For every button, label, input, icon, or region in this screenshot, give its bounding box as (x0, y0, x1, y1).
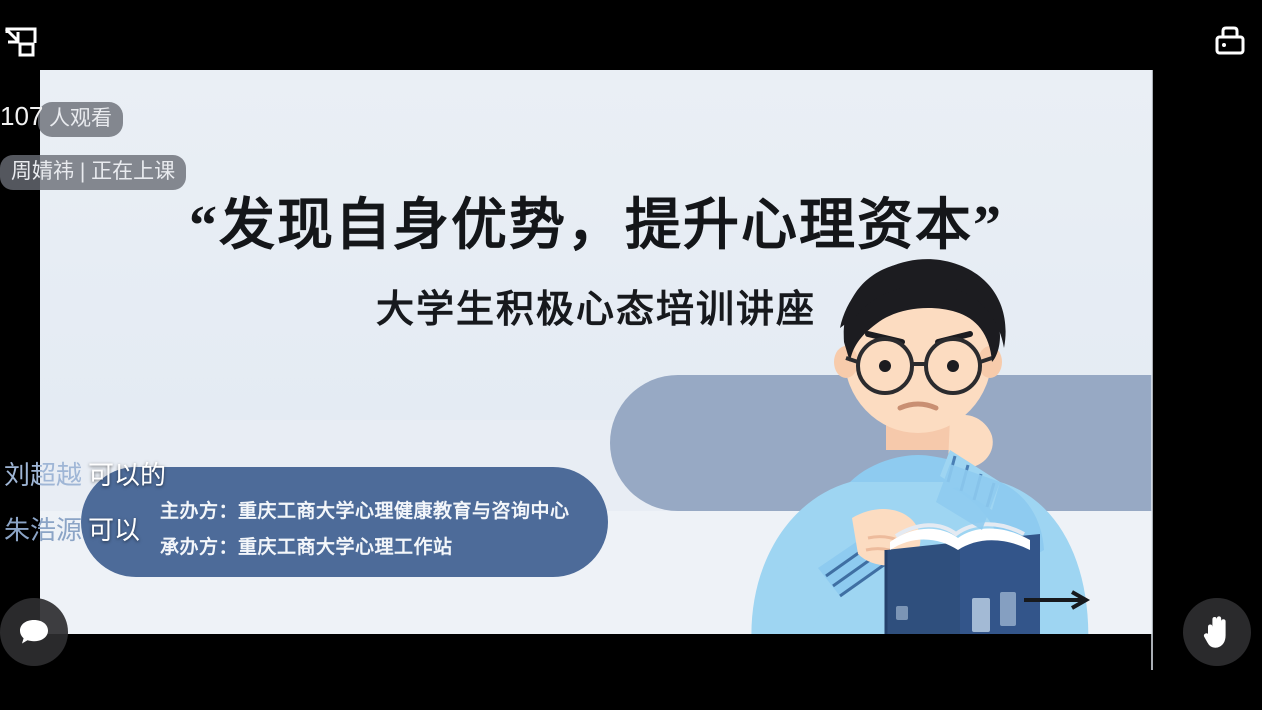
viewer-count-badge: 人观看 (38, 102, 123, 137)
pip-glyph (5, 27, 39, 61)
lock-glyph (1210, 22, 1250, 62)
picture-in-picture-icon[interactable] (2, 24, 42, 64)
chat-message: 刘超越可以的 (4, 462, 166, 488)
right-arrow-icon (1022, 588, 1092, 612)
slide-title: “发现自身优势，提升心理资本” (40, 180, 1152, 261)
organizer-line-coorganizer: 承办方：重庆工商大学心理工作站 (160, 532, 453, 559)
presenter-status-badge: 周婧祎 | 正在上课 (0, 155, 186, 190)
screen-lock-icon[interactable] (1206, 18, 1254, 66)
chat-message-text: 可以 (88, 515, 140, 545)
chat-bubble-icon (17, 615, 51, 649)
chat-message: 朱浩源可以 (4, 517, 140, 543)
chat-button[interactable] (0, 598, 68, 666)
shared-slide[interactable]: “发现自身优势，提升心理资本” 大学生积极心态培训讲座 (40, 70, 1152, 634)
raise-hand-button[interactable] (1183, 598, 1251, 666)
chat-message-name: 刘超越 (4, 460, 82, 490)
chat-message-name: 朱浩源 (4, 515, 82, 545)
organizer-line-host: 主办方：重庆工商大学心理健康教育与咨询中心 (160, 496, 570, 523)
student-reading-book-illustration (700, 250, 1120, 634)
viewer-count: 107 (0, 101, 43, 132)
slide-edge-divider (1151, 70, 1153, 670)
raise-hand-icon (1200, 614, 1234, 650)
live-class-screen: “发现自身优势，提升心理资本” 大学生积极心态培训讲座 (0, 0, 1262, 710)
chat-message-text: 可以的 (88, 460, 166, 490)
